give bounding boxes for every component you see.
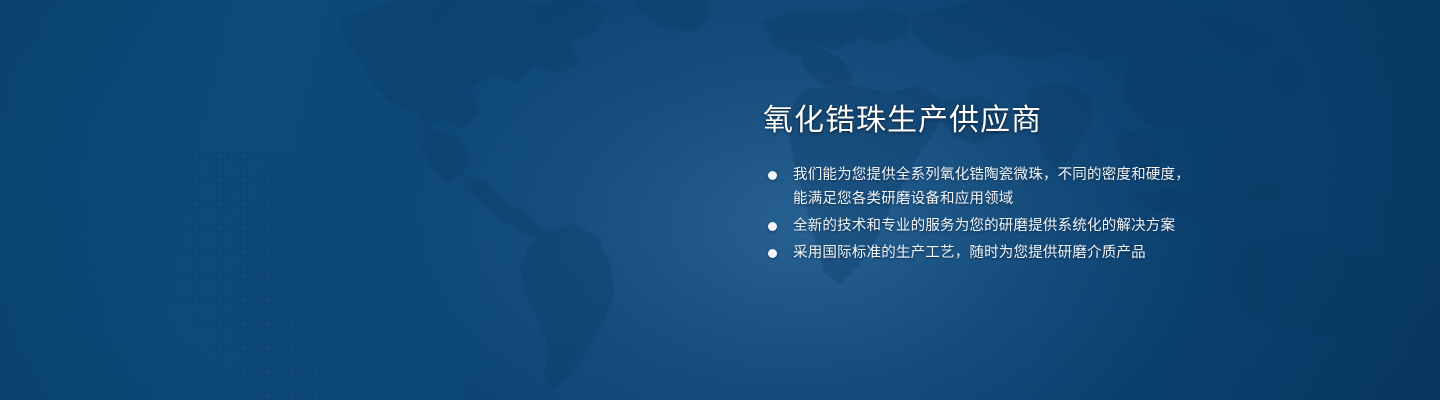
feature-bullet-2: 全新的技术和专业的服务为您的研磨提供系统化的解决方案 (763, 214, 1383, 238)
banner-headline: 氧化锆珠生产供应商 (763, 104, 1383, 139)
feature-bullet-1-line1: 我们能为您提供全系列氧化锆陶瓷微珠，不同的密度和硬度， (793, 167, 1190, 183)
feature-bullet-1: 我们能为您提供全系列氧化锆陶瓷微珠，不同的密度和硬度， 能满足您各类研磨设备和应… (763, 163, 1383, 211)
bullet-dot-icon (768, 171, 777, 180)
feature-bullet-2-text: 全新的技术和专业的服务为您的研磨提供系统化的解决方案 (793, 214, 1383, 238)
feature-bullet-1-line2: 能满足您各类研磨设备和应用领域 (793, 187, 1383, 211)
feature-bullet-list: 我们能为您提供全系列氧化锆陶瓷微珠，不同的密度和硬度， 能满足您各类研磨设备和应… (763, 163, 1383, 265)
feature-bullet-1-text: 我们能为您提供全系列氧化锆陶瓷微珠，不同的密度和硬度， 能满足您各类研磨设备和应… (793, 163, 1383, 211)
hero-banner: 氧化锆珠生产供应商 我们能为您提供全系列氧化锆陶瓷微珠，不同的密度和硬度， 能满… (0, 0, 1440, 400)
bullet-dot-icon (768, 222, 777, 231)
bullet-dot-icon (768, 249, 777, 258)
banner-copy: 氧化锆珠生产供应商 我们能为您提供全系列氧化锆陶瓷微珠，不同的密度和硬度， 能满… (763, 104, 1383, 268)
feature-bullet-3: 采用国际标准的生产工艺，随时为您提供研磨介质产品 (763, 241, 1383, 265)
feature-bullet-3-text: 采用国际标准的生产工艺，随时为您提供研磨介质产品 (793, 241, 1383, 265)
